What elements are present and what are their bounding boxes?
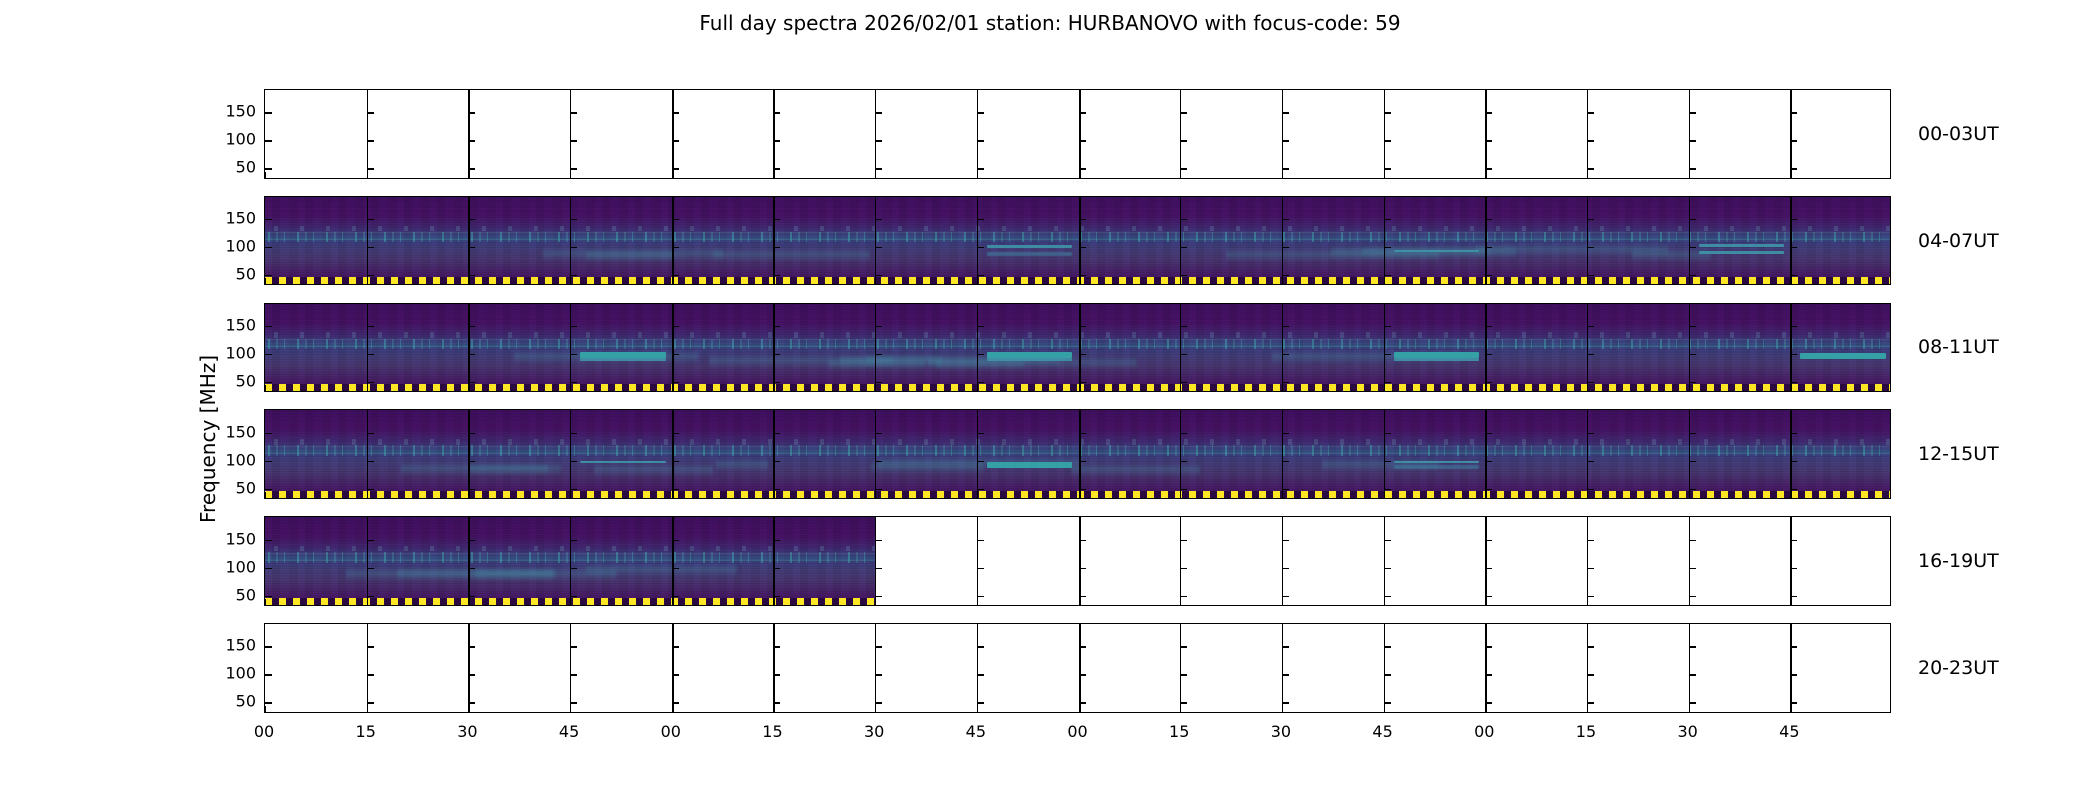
row-time-label: 20-23UT (1918, 657, 1999, 679)
y-axis-tick (570, 646, 577, 647)
y-axis-tick (1282, 596, 1289, 597)
x-axis-tick (1790, 385, 1791, 391)
y-axis-tick (367, 219, 374, 220)
column-separator (1790, 624, 1791, 712)
x-axis-tick (570, 278, 571, 284)
x-axis-tick-label: 15 (356, 722, 376, 741)
x-axis-tick (468, 492, 469, 498)
column-separator (1587, 197, 1588, 285)
hour-group-separator (1485, 197, 1487, 285)
y-axis-tick (1689, 568, 1696, 569)
y-axis-tick (875, 674, 882, 675)
y-axis-tick (773, 354, 780, 355)
spectrogram-row[interactable] (264, 623, 1891, 713)
x-axis-tick (875, 706, 876, 712)
y-axis-tick (1689, 646, 1696, 647)
y-axis-tick-label: 100 (225, 343, 256, 362)
column-separator (1587, 90, 1588, 178)
spectrogram-emission-bar (1394, 465, 1479, 469)
y-axis-tick (265, 247, 272, 248)
y-axis-tick (367, 382, 374, 383)
y-axis-tick (773, 674, 780, 675)
y-axis-tick (875, 382, 882, 383)
y-axis-tick (468, 112, 475, 113)
y-axis-tick (977, 596, 984, 597)
column-separator (570, 410, 571, 498)
x-axis-tick (1485, 706, 1486, 712)
y-axis-tick (1079, 596, 1086, 597)
column-separator (977, 517, 978, 605)
y-axis-tick (1384, 596, 1391, 597)
spectrogram-diffuse-patch (716, 458, 768, 472)
y-axis-tick (977, 433, 984, 434)
y-axis-tick (1079, 489, 1086, 490)
spectrogram-row[interactable] (264, 89, 1891, 179)
x-axis-tick (773, 172, 774, 178)
y-axis-tick (1485, 168, 1492, 169)
row-time-label: 16-19UT (1918, 550, 1999, 572)
y-axis-tick (265, 326, 272, 327)
x-axis-tick (367, 599, 368, 605)
spectrogram-emission-bar (580, 358, 665, 361)
y-axis-tick (875, 433, 882, 434)
y-axis-tick (672, 275, 679, 276)
spectrogram-emission-bar (987, 358, 1072, 361)
y-axis-tick (1485, 112, 1492, 113)
y-axis-tick (570, 112, 577, 113)
hour-group-separator (672, 624, 674, 712)
x-axis-tick (1689, 599, 1690, 605)
y-axis-tick (1282, 489, 1289, 490)
y-axis-tick (265, 461, 272, 462)
y-axis-tick (1587, 540, 1594, 541)
column-separator (1587, 304, 1588, 392)
y-axis-tick (977, 568, 984, 569)
y-axis-tick (875, 540, 882, 541)
x-axis-tick-label: 30 (457, 722, 477, 741)
column-separator (570, 304, 571, 392)
y-axis-tick (672, 382, 679, 383)
y-axis-tick (773, 461, 780, 462)
y-axis-tick (773, 382, 780, 383)
column-separator (1790, 410, 1791, 498)
y-axis-tick (367, 247, 374, 248)
x-axis-tick (875, 599, 876, 605)
y-axis-tick (1079, 275, 1086, 276)
y-axis-tick (1689, 702, 1696, 703)
spectrogram-row[interactable] (264, 409, 1891, 499)
x-axis-tick (1282, 706, 1283, 712)
y-axis-tick (1689, 112, 1696, 113)
y-axis-tick (672, 489, 679, 490)
y-axis-tick (265, 354, 272, 355)
spectrogram-grid (264, 89, 1891, 713)
y-axis-tick (977, 247, 984, 248)
y-axis-tick (1079, 354, 1086, 355)
y-axis-tick (773, 433, 780, 434)
y-axis-tick (1587, 568, 1594, 569)
y-axis-tick (1485, 219, 1492, 220)
y-axis-tick (1180, 540, 1187, 541)
y-axis-tick-label: 100 (225, 237, 256, 256)
x-axis-tick-label: 00 (254, 722, 274, 741)
y-axis-tick (1180, 646, 1187, 647)
column-separator (977, 304, 978, 392)
y-axis-tick (1790, 461, 1797, 462)
x-axis-tick-label: 00 (1067, 722, 1087, 741)
spectrogram-emission-bar (1394, 358, 1479, 361)
y-axis-tick (1384, 168, 1391, 169)
y-axis-tick (468, 702, 475, 703)
y-axis-tick (1180, 247, 1187, 248)
x-axis-tick (570, 492, 571, 498)
y-axis-tick (672, 568, 679, 569)
y-axis-tick (570, 168, 577, 169)
spectrogram-diffuse-patch (713, 248, 870, 262)
x-axis-tick (1079, 385, 1080, 391)
y-axis-tick (1384, 354, 1391, 355)
column-separator (468, 90, 469, 178)
spectrogram-emission-bar (987, 252, 1072, 256)
spectrogram-row-axes (264, 89, 1891, 179)
y-axis-tick (1790, 646, 1797, 647)
y-axis-tick (773, 247, 780, 248)
column-separator (570, 517, 571, 605)
y-axis-tick (1689, 326, 1696, 327)
row-time-label: 12-15UT (1918, 443, 1999, 465)
y-axis-tick (1180, 596, 1187, 597)
y-axis-tick (672, 354, 679, 355)
x-axis-tick-label: 45 (559, 722, 579, 741)
column-separator (367, 197, 368, 285)
column-separator (1689, 90, 1690, 178)
column-separator (570, 90, 571, 178)
x-axis-tick (672, 278, 673, 284)
y-axis-tick (672, 326, 679, 327)
y-axis-tick (1079, 646, 1086, 647)
x-axis-tick (875, 492, 876, 498)
y-axis-tick (265, 168, 272, 169)
column-separator (875, 304, 876, 392)
y-axis-tick-label: 100 (225, 450, 256, 469)
spectrogram-diffuse-patch (1362, 245, 1489, 259)
x-axis-tick (265, 706, 266, 712)
y-axis-tick (1485, 275, 1492, 276)
column-separator (468, 197, 469, 285)
y-axis-tick (570, 219, 577, 220)
y-axis-tick (773, 540, 780, 541)
y-axis-tick (1485, 596, 1492, 597)
y-axis-tick (1689, 540, 1696, 541)
y-axis-tick (1180, 326, 1187, 327)
spectrogram-row[interactable] (264, 516, 1891, 606)
y-axis-tick (1079, 702, 1086, 703)
y-axis-tick (1587, 219, 1594, 220)
y-axis-tick (977, 674, 984, 675)
x-axis-tick (1079, 599, 1080, 605)
hour-group-separator (1079, 517, 1081, 605)
y-axis-tick (977, 540, 984, 541)
y-axis-tick (1079, 433, 1086, 434)
hour-group-separator (1485, 517, 1487, 605)
x-axis-tick (468, 599, 469, 605)
y-axis-tick (468, 540, 475, 541)
y-axis-tick (468, 461, 475, 462)
y-axis-label: Frequency [MHz] (196, 497, 222, 523)
column-separator (367, 517, 368, 605)
y-axis-tick (265, 702, 272, 703)
x-axis-tick (1384, 385, 1385, 391)
y-axis-tick (773, 140, 780, 141)
y-axis-tick (367, 275, 374, 276)
x-axis-tick (1689, 278, 1690, 284)
y-axis-tick (1790, 168, 1797, 169)
y-axis-tick (1282, 568, 1289, 569)
y-axis-tick (265, 568, 272, 569)
x-axis-tick (367, 278, 368, 284)
y-axis-tick (570, 702, 577, 703)
x-axis-tick (1282, 278, 1283, 284)
column-separator (1689, 517, 1690, 605)
spectrogram-diffuse-patch (594, 463, 713, 477)
column-separator (468, 624, 469, 712)
hour-group-separator (1079, 410, 1081, 498)
y-axis-tick (1384, 247, 1391, 248)
y-axis-tick (570, 568, 577, 569)
x-axis-tick (468, 172, 469, 178)
y-axis-tick (265, 433, 272, 434)
column-separator (367, 90, 368, 178)
y-axis-tick (570, 540, 577, 541)
figure-canvas: Full day spectra 2026/02/01 station: HUR… (0, 0, 2100, 800)
y-axis-tick (1689, 140, 1696, 141)
y-axis-tick (1689, 247, 1696, 248)
x-axis-tick (1790, 278, 1791, 284)
spectrogram-emission-bar (1394, 461, 1479, 464)
y-axis-tick (1485, 461, 1492, 462)
y-axis-tick (1282, 382, 1289, 383)
y-axis-tick (1282, 702, 1289, 703)
column-separator (1180, 304, 1181, 392)
spectrogram-row-axes (264, 303, 1891, 393)
x-axis-tick (1180, 599, 1181, 605)
y-axis-tick (1790, 275, 1797, 276)
y-axis-tick (1384, 140, 1391, 141)
y-axis-tick (1587, 112, 1594, 113)
x-axis-tick (1689, 385, 1690, 391)
y-axis-tick (1587, 489, 1594, 490)
column-separator (570, 624, 571, 712)
y-axis-tick (1790, 140, 1797, 141)
x-axis-tick (1384, 706, 1385, 712)
y-axis-tick (977, 140, 984, 141)
column-separator (1282, 410, 1283, 498)
spectrogram-emission-bar (1699, 244, 1784, 247)
y-axis-tick (468, 140, 475, 141)
y-axis-tick-label: 50 (236, 158, 256, 177)
x-axis-tick (1689, 172, 1690, 178)
y-axis-tick-label: 150 (225, 636, 256, 655)
y-axis-tick (773, 326, 780, 327)
spectrogram-row-axes (264, 516, 1891, 606)
x-axis-tick (773, 492, 774, 498)
hour-group-separator (1079, 624, 1081, 712)
y-axis-tick (1790, 489, 1797, 490)
spectrogram-diffuse-patch (709, 354, 893, 368)
x-axis-tick (1689, 706, 1690, 712)
spectrogram-emission-bar (1800, 353, 1885, 359)
column-separator (1282, 517, 1283, 605)
y-axis-tick (773, 596, 780, 597)
y-axis-tick (468, 354, 475, 355)
y-axis-tick (1282, 275, 1289, 276)
x-axis-tick (1180, 385, 1181, 391)
hour-group-separator (1485, 90, 1487, 178)
y-axis-tick (1282, 354, 1289, 355)
x-axis-tick-label: 30 (864, 722, 884, 741)
column-separator (468, 304, 469, 392)
x-axis-tick (1282, 385, 1283, 391)
column-separator (1790, 90, 1791, 178)
y-axis-tick (367, 140, 374, 141)
y-axis-tick (773, 275, 780, 276)
y-axis-tick (1180, 140, 1187, 141)
y-axis-tick (875, 140, 882, 141)
x-axis-tick (570, 706, 571, 712)
hour-group-separator (672, 410, 674, 498)
column-separator (1180, 90, 1181, 178)
y-axis-tick (875, 702, 882, 703)
y-axis-tick (468, 568, 475, 569)
column-separator (1282, 304, 1283, 392)
x-axis-tick-label: 45 (966, 722, 986, 741)
x-axis-tick (875, 172, 876, 178)
y-axis-tick (1384, 461, 1391, 462)
spectrogram-row[interactable] (264, 303, 1891, 393)
y-axis-tick (1485, 140, 1492, 141)
y-axis-tick (1079, 568, 1086, 569)
y-axis-tick (1689, 354, 1696, 355)
y-axis-tick (773, 702, 780, 703)
y-axis-tick (367, 702, 374, 703)
y-axis-tick (1384, 646, 1391, 647)
y-axis-tick (977, 461, 984, 462)
y-axis-tick (1790, 354, 1797, 355)
y-axis-tick-label: 50 (236, 478, 256, 497)
x-axis-tick-label: 15 (1169, 722, 1189, 741)
x-axis-tick (672, 172, 673, 178)
y-axis-tick (875, 219, 882, 220)
y-axis-tick-label: 150 (225, 209, 256, 228)
x-axis-tick (1384, 599, 1385, 605)
y-axis-tick (570, 354, 577, 355)
y-axis-tick (1587, 354, 1594, 355)
y-axis-tick (367, 461, 374, 462)
x-axis-tick (875, 385, 876, 391)
y-axis-tick (875, 354, 882, 355)
column-separator (1689, 197, 1690, 285)
y-axis-tick (1587, 140, 1594, 141)
spectrogram-row-axes (264, 409, 1891, 499)
x-axis-tick (672, 599, 673, 605)
y-axis-tick (1790, 702, 1797, 703)
y-axis-tick (1079, 112, 1086, 113)
column-separator (977, 624, 978, 712)
y-axis-tick (1282, 540, 1289, 541)
column-separator (977, 90, 978, 178)
y-axis-tick (1282, 326, 1289, 327)
y-axis-tick (570, 140, 577, 141)
y-axis-tick (468, 433, 475, 434)
spectrogram-emission-bar (1394, 352, 1479, 358)
column-separator (875, 410, 876, 498)
x-axis-tick (977, 172, 978, 178)
y-axis-tick (468, 646, 475, 647)
row-time-label: 00-03UT (1918, 123, 1999, 145)
x-axis-tick (977, 492, 978, 498)
hour-group-separator (672, 90, 674, 178)
y-axis-tick (1079, 219, 1086, 220)
x-axis-tick (1180, 492, 1181, 498)
hour-group-separator (672, 197, 674, 285)
x-axis-tick (1790, 172, 1791, 178)
y-axis-tick (1790, 596, 1797, 597)
x-axis-tick (1282, 492, 1283, 498)
column-separator (1689, 410, 1690, 498)
y-axis-tick (977, 112, 984, 113)
column-separator (468, 410, 469, 498)
y-axis-tick (1689, 596, 1696, 597)
y-axis-tick (367, 674, 374, 675)
spectrogram-emission-bar (1699, 251, 1784, 254)
y-axis-tick (1180, 674, 1187, 675)
y-axis-tick (672, 112, 679, 113)
y-axis-tick (1689, 461, 1696, 462)
y-axis-tick (773, 489, 780, 490)
column-separator (367, 624, 368, 712)
y-axis-tick-label: 50 (236, 585, 256, 604)
x-axis-tick (1689, 492, 1690, 498)
column-separator (977, 410, 978, 498)
y-axis-tick (875, 489, 882, 490)
column-separator (875, 197, 876, 285)
column-separator (875, 624, 876, 712)
column-separator (773, 197, 774, 285)
y-axis-tick (1282, 140, 1289, 141)
y-axis-tick (1790, 433, 1797, 434)
x-axis-tick (1180, 172, 1181, 178)
spectrogram-diffuse-patch (1476, 243, 1669, 257)
spectrogram-row[interactable] (264, 196, 1891, 286)
y-axis-tick (1384, 568, 1391, 569)
column-separator (367, 304, 368, 392)
y-axis-tick (468, 168, 475, 169)
y-axis-tick (1384, 674, 1391, 675)
y-axis-tick (570, 674, 577, 675)
y-axis-tick (1790, 219, 1797, 220)
column-separator (1587, 517, 1588, 605)
x-axis-tick (1587, 172, 1588, 178)
y-axis-tick (570, 382, 577, 383)
y-axis-tick (977, 219, 984, 220)
y-axis-tick (367, 596, 374, 597)
x-axis-tick (1790, 599, 1791, 605)
column-separator (977, 197, 978, 285)
x-axis-tick (1587, 599, 1588, 605)
column-separator (1384, 90, 1385, 178)
y-axis-tick (265, 674, 272, 675)
column-separator (875, 517, 876, 605)
